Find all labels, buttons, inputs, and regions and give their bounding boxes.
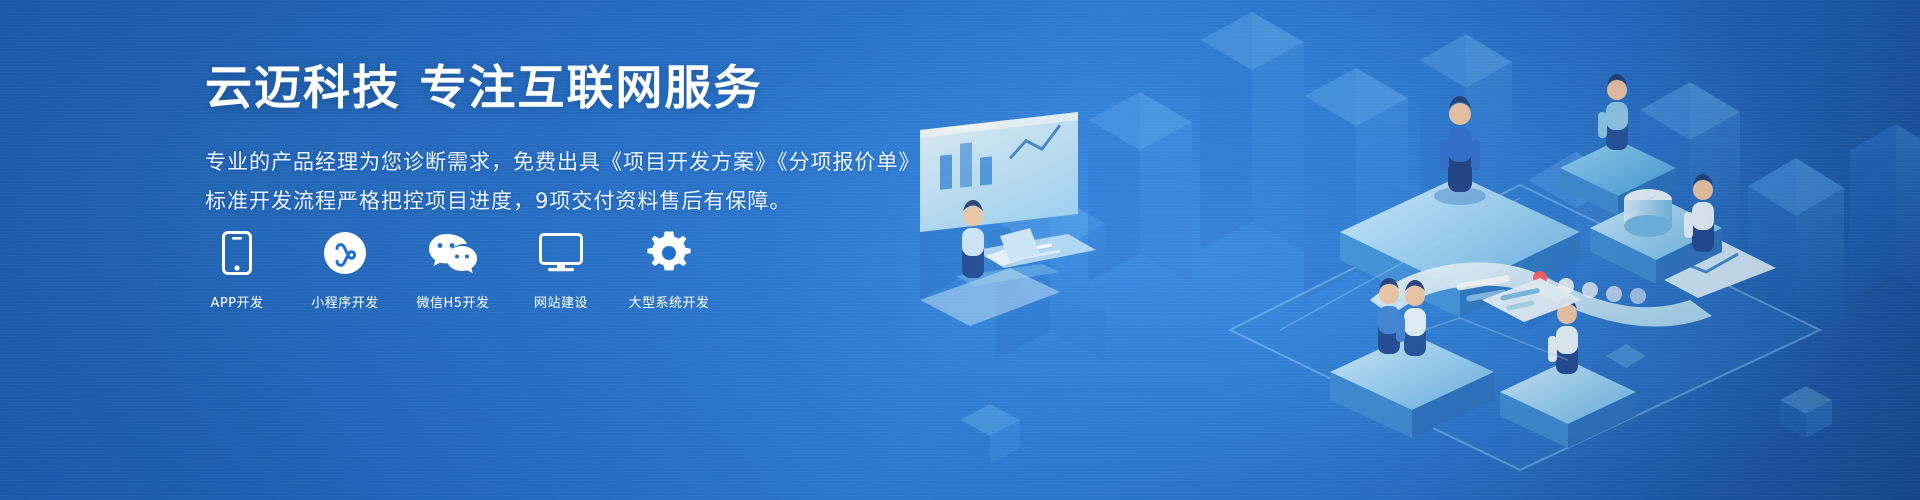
hero-copy: 云迈科技 专注互联网服务 专业的产品经理为您诊断需求，免费出具《项目开发方案》《… (205, 60, 965, 220)
person-sitting-upper-right (1598, 74, 1628, 150)
gear-icon (647, 230, 691, 276)
monitor-icon (539, 230, 583, 276)
service-label: 小程序开发 (311, 292, 379, 311)
service-item-miniprogram[interactable]: 小程序开发 (313, 230, 377, 311)
hero-illustration (900, 0, 1920, 500)
wechat-icon (428, 230, 478, 276)
service-label: 微信H5开发 (416, 292, 489, 311)
service-item-large-system[interactable]: 大型系统开发 (637, 230, 701, 311)
subtitle-line-2: 标准开发流程严格把控项目进度，9项交付资料售后有保障。 (205, 182, 965, 221)
page-title: 云迈科技 专注互联网服务 (205, 60, 965, 119)
mobile-phone-icon (222, 230, 252, 276)
service-item-website[interactable]: 网站建设 (529, 230, 593, 311)
service-icon-row: APP开发 小程序开发 微信 (205, 230, 701, 311)
service-label: 网站建设 (534, 292, 588, 311)
mini-program-icon (323, 230, 367, 276)
service-item-app[interactable]: APP开发 (205, 230, 269, 311)
service-item-wechat-h5[interactable]: 微信H5开发 (421, 230, 485, 311)
service-label: 大型系统开发 (629, 292, 710, 311)
hero-banner: 云迈科技 专注互联网服务 专业的产品经理为您诊断需求，免费出具《项目开发方案》《… (0, 0, 1920, 500)
subtitle-line-1: 专业的产品经理为您诊断需求，免费出具《项目开发方案》《分项报价单》 (205, 143, 965, 182)
service-label: APP开发 (210, 292, 263, 311)
cylinder-object (1624, 189, 1672, 237)
hero-subtitle: 专业的产品经理为您诊断需求，免费出具《项目开发方案》《分项报价单》 标准开发流程… (205, 143, 965, 221)
